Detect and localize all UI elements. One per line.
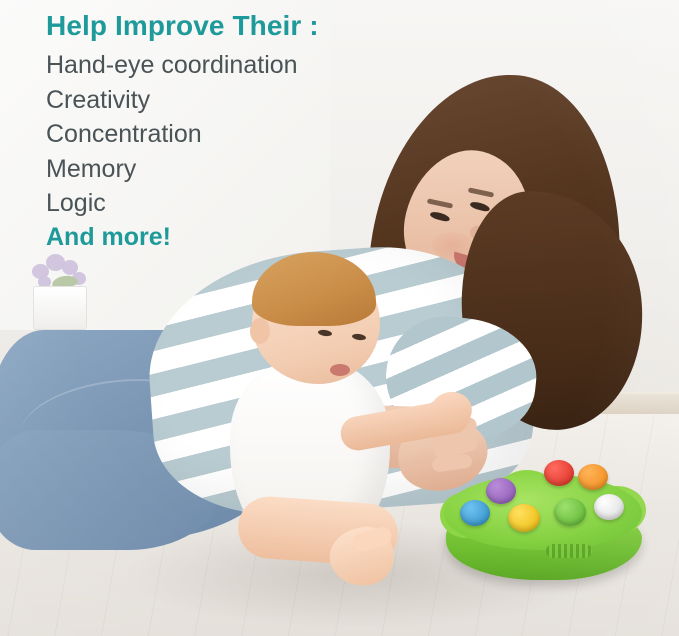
toy-button-red bbox=[544, 460, 574, 486]
toy-speaker-grille bbox=[546, 544, 592, 558]
baby-ear bbox=[250, 318, 270, 344]
toy-button-white bbox=[594, 494, 624, 520]
plant-pot bbox=[33, 286, 87, 330]
baby-mouth bbox=[330, 364, 350, 376]
benefit-item-3: Concentration bbox=[46, 117, 406, 152]
toy-button-yellow bbox=[508, 504, 540, 532]
benefits-overlay: Help Improve Their : Hand-eye coordinati… bbox=[0, 0, 406, 252]
toy-button-orange bbox=[578, 464, 608, 490]
closing-line: And more! bbox=[46, 223, 406, 252]
benefit-item-1: Hand-eye coordination bbox=[46, 48, 406, 83]
benefit-item-4: Memory bbox=[46, 152, 406, 187]
benefit-item-2: Creativity bbox=[46, 83, 406, 118]
benefit-item-5: Logic bbox=[46, 186, 406, 221]
musical-toy bbox=[438, 452, 648, 584]
toy-button-blue bbox=[460, 500, 490, 526]
product-lifestyle-image: Help Improve Their : Hand-eye coordinati… bbox=[0, 0, 679, 636]
toy-button-purple bbox=[486, 478, 516, 504]
headline: Help Improve Their : bbox=[46, 10, 406, 42]
toy-button-green bbox=[554, 498, 586, 526]
